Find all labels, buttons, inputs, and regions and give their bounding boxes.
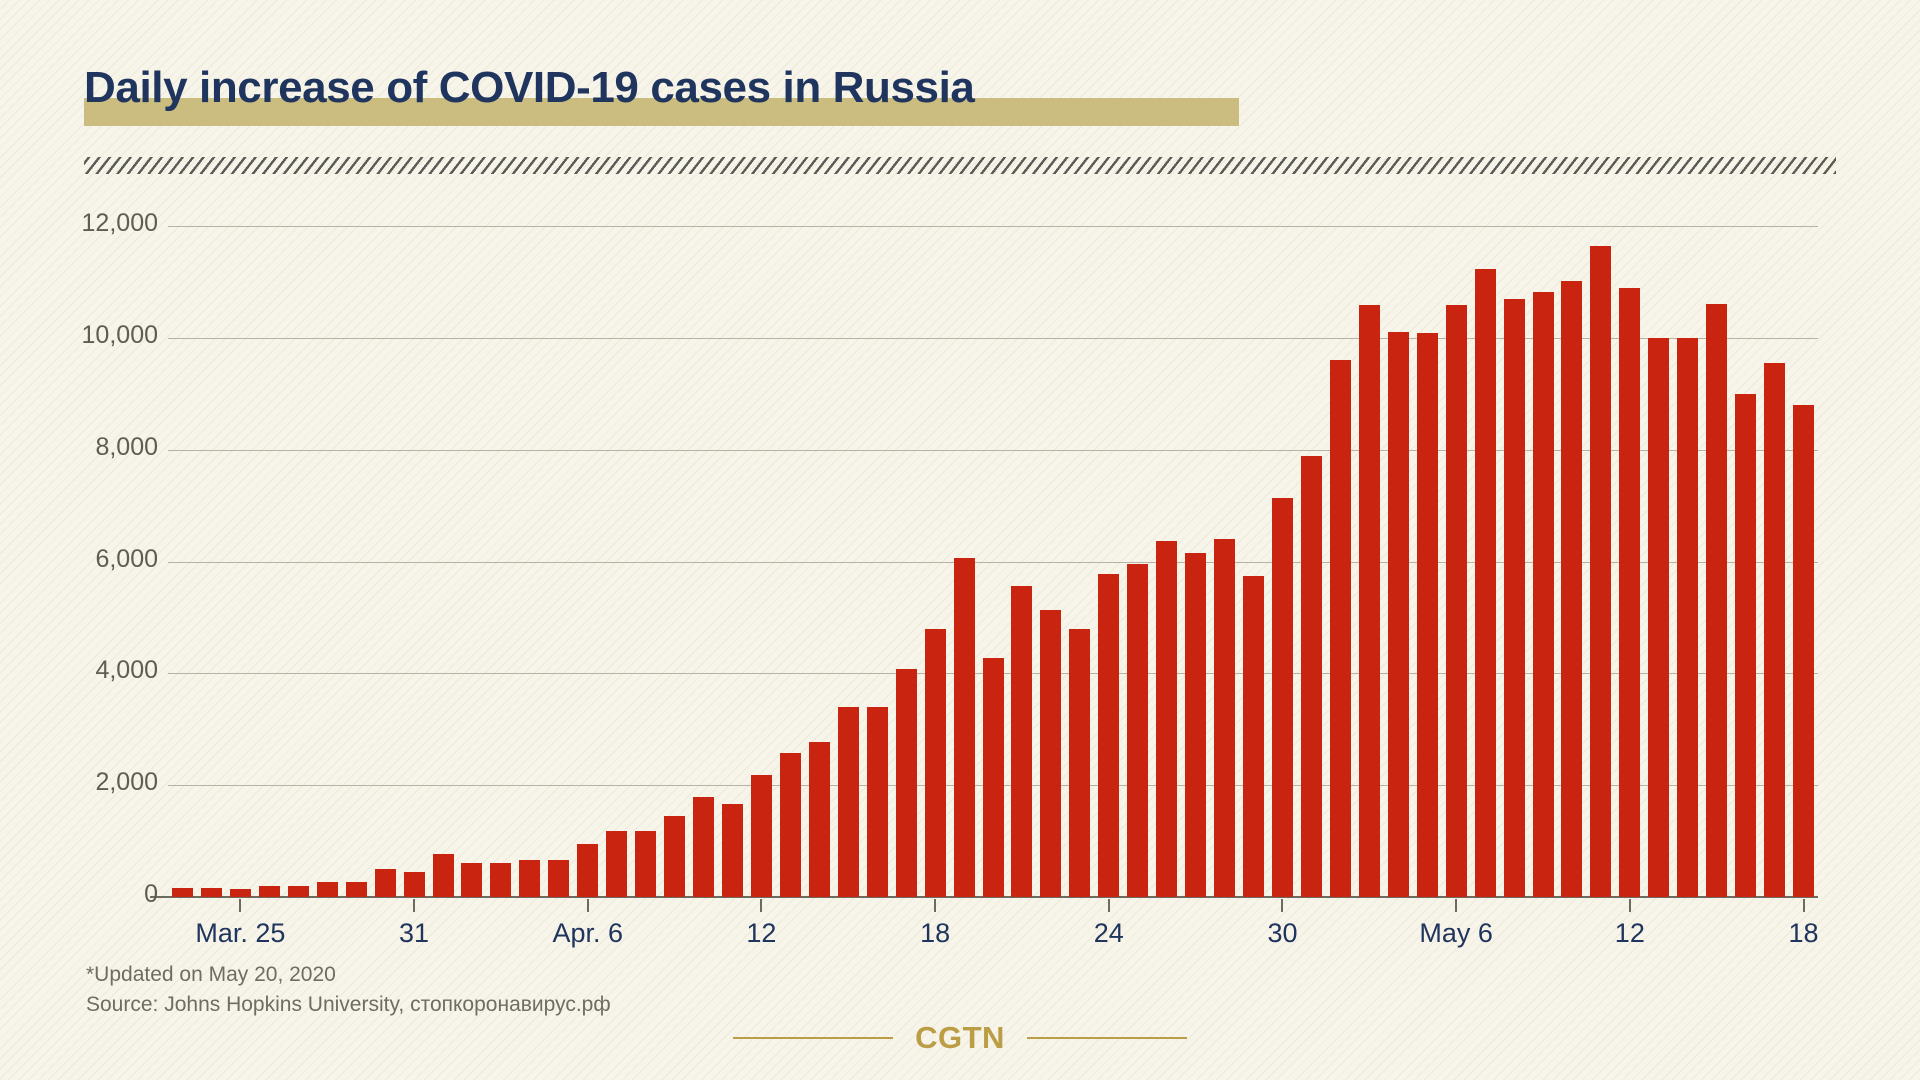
- bar: [1533, 292, 1554, 897]
- bar: [1359, 305, 1380, 897]
- y-axis-tick-label: 12,000: [82, 209, 158, 238]
- bar: [519, 860, 540, 897]
- bar: [490, 863, 511, 897]
- x-axis-tick: [1629, 899, 1631, 912]
- bar: [317, 882, 338, 897]
- bar: [375, 869, 396, 897]
- bar: [433, 854, 454, 897]
- bar: [1185, 553, 1206, 897]
- bar: [346, 882, 367, 897]
- bar: [1011, 586, 1032, 897]
- x-axis-tick-label: 31: [399, 918, 429, 949]
- x-axis-tick: [760, 899, 762, 912]
- bar: [1504, 299, 1525, 897]
- bar: [1127, 564, 1148, 897]
- bar: [780, 753, 801, 897]
- bar: [1040, 610, 1061, 897]
- bar: [635, 831, 656, 897]
- bar: [1388, 332, 1409, 897]
- bar: [809, 742, 830, 897]
- bar: [1561, 281, 1582, 897]
- bar: [1069, 629, 1090, 897]
- y-axis-tick-label: 4,000: [95, 656, 158, 685]
- x-axis-tick: [1455, 899, 1457, 912]
- bar: [1648, 338, 1669, 897]
- bar: [1330, 360, 1351, 897]
- bar: [259, 886, 280, 897]
- title-block: Daily increase of COVID-19 cases in Russ…: [84, 62, 975, 124]
- y-axis-tick-label: 8,000: [95, 433, 158, 462]
- bar: [1764, 363, 1785, 897]
- bar: [693, 797, 714, 897]
- bar: [577, 844, 598, 897]
- x-axis-tick-label: 18: [1788, 918, 1818, 949]
- bar: [548, 860, 569, 897]
- bar: [201, 888, 222, 897]
- footnote: *Updated on May 20, 2020 Source: Johns H…: [86, 960, 611, 1020]
- updated-text: *Updated on May 20, 2020: [86, 960, 611, 990]
- bar: [664, 816, 685, 897]
- bar: [1156, 541, 1177, 897]
- source-text: Source: Johns Hopkins University, стопко…: [86, 990, 611, 1020]
- x-axis-tick: [934, 899, 936, 912]
- bar: [288, 886, 309, 897]
- x-axis-tick-label: Apr. 6: [552, 918, 623, 949]
- bar: [1706, 304, 1727, 897]
- y-axis-tick-label: 2,000: [95, 768, 158, 797]
- y-axis-tick-label: 6,000: [95, 545, 158, 574]
- x-axis-tick: [587, 899, 589, 912]
- x-axis-tick: [1108, 899, 1110, 912]
- bar: [1417, 333, 1438, 897]
- bar: [230, 889, 251, 897]
- x-axis-tick-label: 24: [1094, 918, 1124, 949]
- y-axis-tick-label: 0: [144, 880, 158, 909]
- x-axis-tick: [1803, 899, 1805, 912]
- page-title: Daily increase of COVID-19 cases in Russ…: [84, 62, 975, 114]
- bar: [1619, 288, 1640, 897]
- bar: [606, 831, 627, 897]
- bar: [1243, 576, 1264, 897]
- x-axis-tick: [239, 899, 241, 912]
- bar: [172, 888, 193, 897]
- bar: [1735, 394, 1756, 897]
- bar: [838, 707, 859, 897]
- bar: [404, 872, 425, 897]
- x-axis-tick: [1281, 899, 1283, 912]
- logo-row: CGTN: [0, 1018, 1920, 1058]
- bar: [1475, 269, 1496, 897]
- bar: [896, 669, 917, 897]
- bar: [722, 804, 743, 897]
- x-axis-tick-label: 18: [920, 918, 950, 949]
- bar: [1677, 338, 1698, 897]
- x-axis-tick-label: 30: [1267, 918, 1297, 949]
- bar: [925, 629, 946, 897]
- bar: [1590, 246, 1611, 897]
- bar: [1098, 574, 1119, 897]
- bar: [1301, 456, 1322, 897]
- x-axis-tick-label: Mar. 25: [195, 918, 285, 949]
- logo-rule-left: [733, 1037, 893, 1039]
- chart-plot-area: 02,0004,0006,0008,00010,00012,000 Mar. 2…: [0, 0, 1920, 1080]
- bar: [1214, 539, 1235, 897]
- x-axis-tick-label: 12: [746, 918, 776, 949]
- infographic-page: Daily increase of COVID-19 cases in Russ…: [0, 0, 1920, 1080]
- bar: [867, 707, 888, 897]
- x-axis-tick-label: May 6: [1419, 918, 1493, 949]
- y-axis-tick-label: 10,000: [82, 321, 158, 350]
- bar: [983, 658, 1004, 897]
- bar: [1446, 305, 1467, 897]
- bar: [1272, 498, 1293, 897]
- x-axis-tick-label: 12: [1615, 918, 1645, 949]
- bar: [954, 558, 975, 897]
- bar: [1793, 405, 1814, 897]
- bar: [751, 775, 772, 897]
- logo-rule-right: [1027, 1037, 1187, 1039]
- x-axis-tick: [413, 899, 415, 912]
- bar: [461, 863, 482, 897]
- cgtn-logo: CGTN: [915, 1020, 1005, 1056]
